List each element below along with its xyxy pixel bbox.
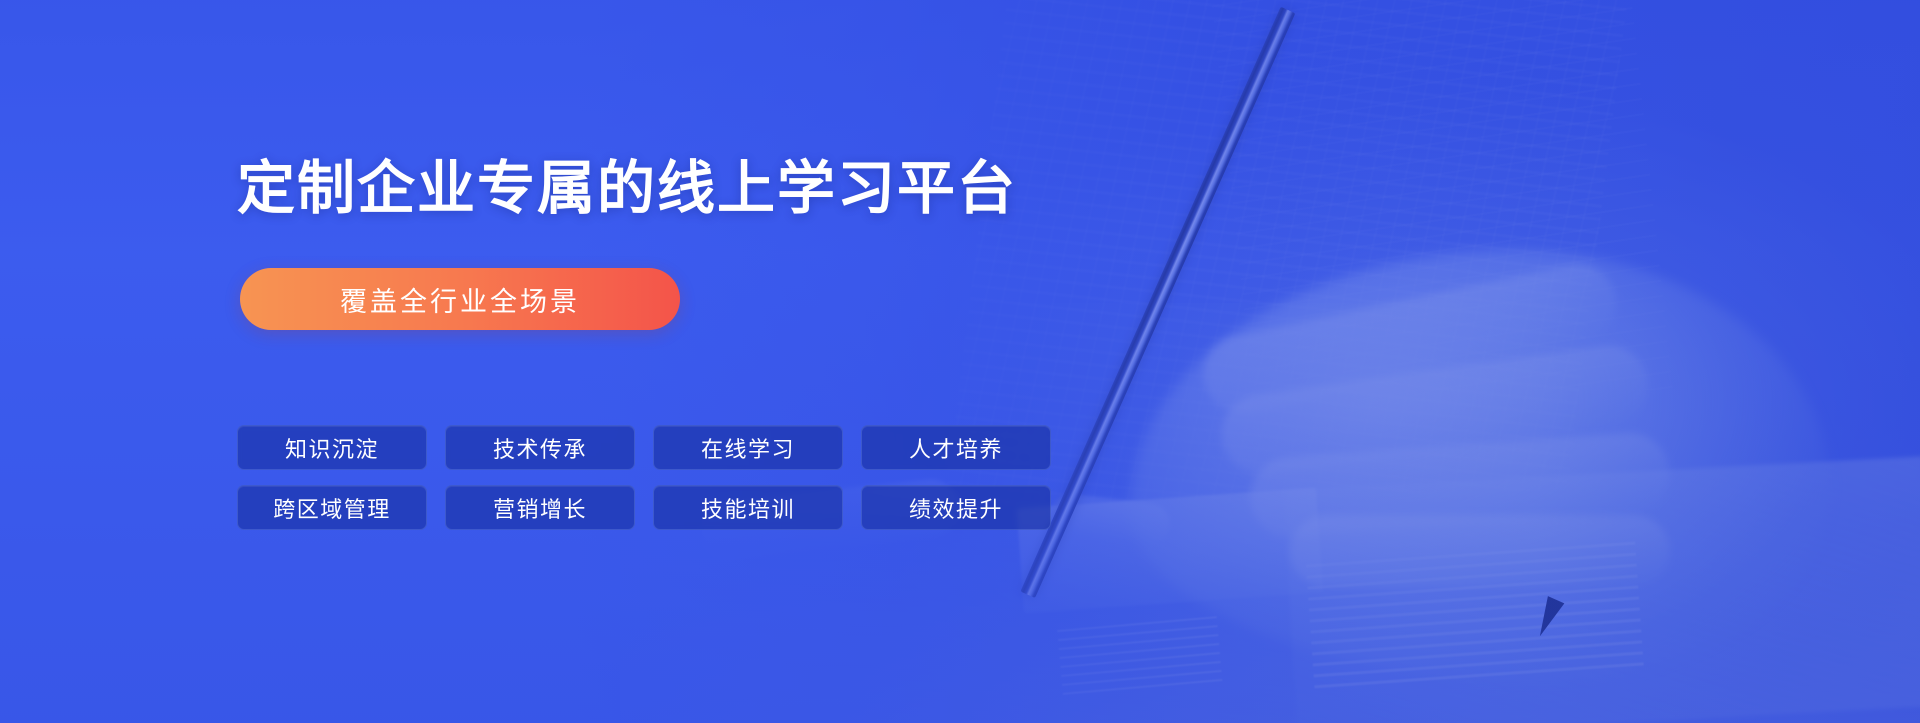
feature-tag[interactable]: 知识沉淀 [237,425,427,470]
feature-tag-grid: 知识沉淀 技术传承 在线学习 人才培养 跨区域管理 营销增长 技能培训 绩效提升 [237,425,1051,530]
feature-tag[interactable]: 跨区域管理 [237,485,427,530]
feature-tag[interactable]: 绩效提升 [861,485,1051,530]
banner-content: 定制企业专属的线上学习平台 覆盖全行业全场景 知识沉淀 技术传承 在线学习 人才… [237,0,1137,723]
feature-tag[interactable]: 在线学习 [653,425,843,470]
page-title: 定制企业专属的线上学习平台 [237,160,1017,218]
feature-tag[interactable]: 技术传承 [445,425,635,470]
hero-banner: 定制企业专属的线上学习平台 覆盖全行业全场景 知识沉淀 技术传承 在线学习 人才… [0,0,1920,723]
feature-tag[interactable]: 人才培养 [861,425,1051,470]
feature-tag[interactable]: 营销增长 [445,485,635,530]
coverage-badge[interactable]: 覆盖全行业全场景 [240,268,680,330]
feature-tag[interactable]: 技能培训 [653,485,843,530]
